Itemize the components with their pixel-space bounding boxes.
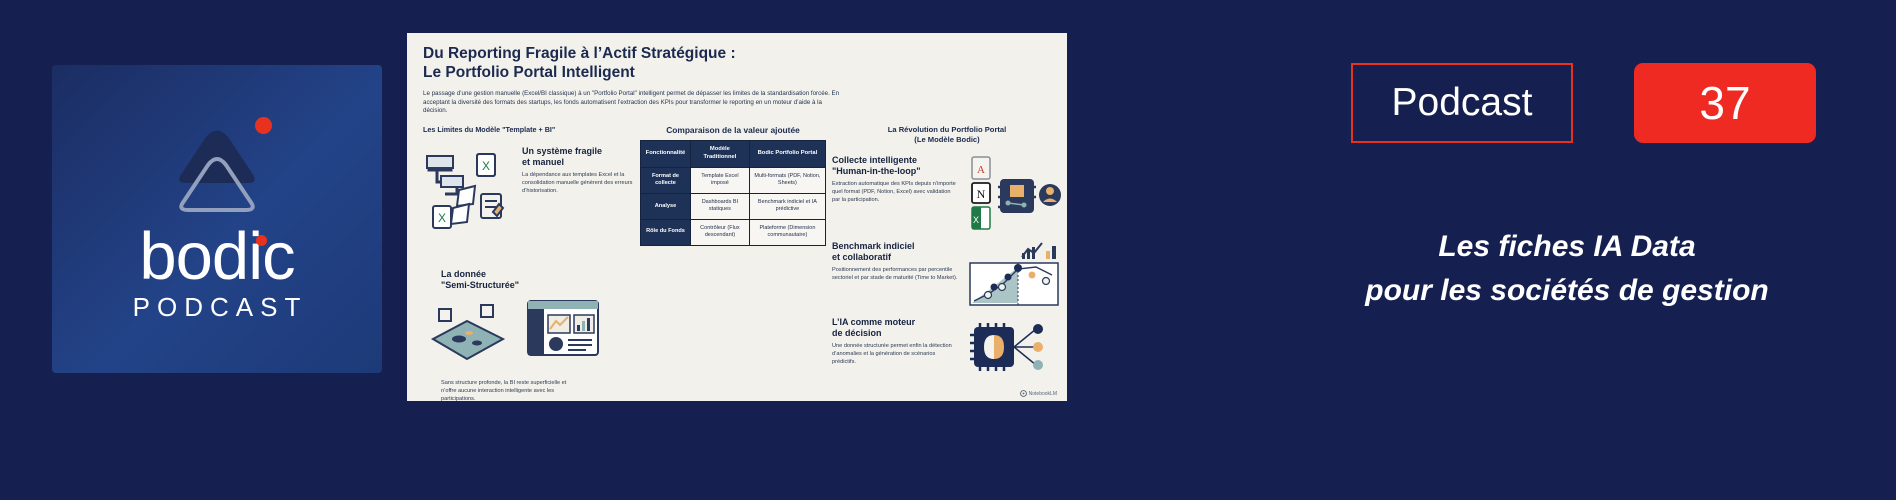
limits-block-1-title: Un système fragile et manuel bbox=[522, 146, 634, 168]
limits-column: Les Limites du Modèle "Template + BI" X bbox=[423, 125, 634, 403]
revolution-block-3: L’IA comme moteur de décision Une donnée… bbox=[832, 317, 1062, 379]
ai-brain-chip-icon bbox=[970, 323, 1014, 371]
revolution-block-1-body: Extraction automatique des KPIs depuis n… bbox=[832, 180, 960, 204]
limits-block-2-title-line1: La donnée bbox=[441, 269, 634, 280]
limits-block-1-title-line2: et manuel bbox=[522, 157, 634, 168]
table-cell-traditional: Contrôleur (Flux descendant) bbox=[690, 219, 749, 245]
revolution-block-2-title: Benchmark indiciel et collaboratif bbox=[832, 241, 960, 263]
table-cell-bodic: Plateforme (Dimension communautaire) bbox=[749, 219, 825, 245]
limits-block-2-body: Sans structure profonde, la BI reste sup… bbox=[423, 379, 573, 403]
table-header-row: Fonctionnalité Modèle Traditionnel Bodic… bbox=[641, 141, 826, 168]
revolution-block-2: Benchmark indiciel et collaboratif Posit… bbox=[832, 241, 1062, 307]
infographic-card: Du Reporting Fragile à l’Actif Stratégiq… bbox=[407, 33, 1067, 401]
notebooklm-icon bbox=[1020, 390, 1027, 397]
comparison-table-caption: Comparaison de la valeur ajoutée bbox=[640, 125, 826, 135]
tagline-line1: Les fiches IA Data bbox=[1257, 225, 1877, 269]
comparison-table-column: Comparaison de la valeur ajoutée Fonctio… bbox=[640, 125, 826, 403]
excel-file-icon: X bbox=[972, 207, 990, 229]
revolution-block-3-body: Une donnée structurée permet enfin la dé… bbox=[832, 342, 956, 366]
revolution-block-3-title-line2: de décision bbox=[832, 328, 956, 339]
table-row: Rôle du Fonds Contrôleur (Flux descendan… bbox=[641, 219, 826, 245]
table-cell-traditional: Template Excel imposé bbox=[690, 167, 749, 193]
revolution-block-1-title-line2: "Human-in-the-loop" bbox=[832, 166, 960, 177]
table-cell-feature: Format de collecte bbox=[641, 167, 691, 193]
logo-red-dot-icon bbox=[255, 117, 272, 134]
table-cell-feature: Analyse bbox=[641, 193, 691, 219]
brand-wordmark: bodic bbox=[139, 225, 294, 289]
podcast-label-box: Podcast bbox=[1351, 63, 1573, 143]
table-header-traditional: Modèle Traditionnel bbox=[690, 141, 749, 168]
brand-logo-panel: bodic PODCAST bbox=[52, 65, 382, 373]
bi-dashboard-icon bbox=[526, 297, 600, 364]
table-cell-feature: Rôle du Fonds bbox=[641, 219, 691, 245]
episode-number-text: 37 bbox=[1699, 76, 1750, 130]
revolution-block-1: Collecte intelligente "Human-in-the-loop… bbox=[832, 155, 1062, 231]
table-row: Analyse Dashboards BI statiques Benchmar… bbox=[641, 193, 826, 219]
infographic-title-line2: Le Portfolio Portal Intelligent bbox=[423, 64, 1051, 83]
limits-block-2-title: La donnée "Semi-Structurée" bbox=[423, 269, 634, 291]
shallow-data-lake-icon bbox=[423, 297, 519, 376]
brand-subtitle: PODCAST bbox=[127, 292, 308, 323]
comparison-table: Fonctionnalité Modèle Traditionnel Bodic… bbox=[640, 140, 826, 245]
ai-chip-icon bbox=[998, 179, 1036, 213]
bodic-triangle-cloud-logo bbox=[158, 115, 276, 215]
revolution-block-3-title-line1: L’IA comme moteur bbox=[832, 317, 956, 328]
podcast-banner: bodic PODCAST Du Reporting Fragile à l’A… bbox=[0, 0, 1896, 500]
infographic-title-line1: Du Reporting Fragile à l’Actif Stratégiq… bbox=[423, 45, 1051, 64]
line-chart-up-icon bbox=[1022, 243, 1042, 259]
svg-text:X: X bbox=[482, 159, 490, 173]
episode-number-badge: 37 bbox=[1634, 63, 1816, 143]
revolution-block-3-title: L’IA comme moteur de décision bbox=[832, 317, 956, 339]
pdf-file-icon: A bbox=[972, 157, 990, 179]
limits-block-1-body: La dépendance aux templates Excel et la … bbox=[522, 171, 634, 195]
revolution-block-2-icons bbox=[966, 241, 1062, 307]
tagline-line2: pour les sociétés de gestion bbox=[1257, 269, 1877, 313]
revolution-block-2-body: Positionnement des performances par perc… bbox=[832, 266, 960, 282]
svg-text:A: A bbox=[977, 164, 985, 176]
bar-chart-icon bbox=[1046, 246, 1056, 259]
infographic-title: Du Reporting Fragile à l’Actif Stratégiq… bbox=[423, 45, 1051, 83]
revolution-block-3-icons bbox=[962, 317, 1062, 379]
table-cell-traditional: Dashboards BI statiques bbox=[690, 193, 749, 219]
decision-tree-icon bbox=[1014, 324, 1043, 370]
revolution-block-1-title-line1: Collecte intelligente bbox=[832, 155, 960, 166]
svg-text:N: N bbox=[977, 187, 986, 201]
table-cell-bodic: Multi-formats (PDF, Notion, Sheets) bbox=[749, 167, 825, 193]
revolution-block-1-icons: A N X bbox=[966, 155, 1062, 231]
notebooklm-credit: NotebookLM bbox=[1020, 390, 1057, 397]
infographic-intro: Le passage d’une gestion manuelle (Excel… bbox=[423, 90, 843, 116]
notebooklm-credit-text: NotebookLM bbox=[1029, 391, 1057, 397]
broken-excel-flow-icon: X X bbox=[423, 146, 515, 243]
tagline: Les fiches IA Data pour les sociétés de … bbox=[1257, 225, 1877, 312]
svg-text:X: X bbox=[438, 211, 446, 225]
scatter-plot-icon bbox=[970, 263, 1058, 305]
table-header-feature: Fonctionnalité bbox=[641, 141, 691, 168]
table-cell-bodic: Benchmark indiciel et IA prédictive bbox=[749, 193, 825, 219]
revolution-heading: La Révolution du Portfolio Portal (Le Mo… bbox=[832, 125, 1062, 145]
revolution-heading-line1: La Révolution du Portfolio Portal bbox=[832, 125, 1062, 135]
revolution-column: La Révolution du Portfolio Portal (Le Mo… bbox=[832, 125, 1062, 403]
revolution-heading-line2: (Le Modèle Bodic) bbox=[832, 135, 1062, 145]
table-header-bodic: Bodic Portfolio Portal bbox=[749, 141, 825, 168]
table-row: Format de collecte Template Excel imposé… bbox=[641, 167, 826, 193]
person-avatar-icon bbox=[1039, 184, 1061, 206]
svg-text:X: X bbox=[973, 215, 979, 225]
notion-icon: N bbox=[972, 183, 990, 203]
wordmark-i-dot-icon bbox=[256, 235, 267, 246]
brand-wordmark-text: bodic bbox=[139, 219, 294, 294]
limits-block-1-title-line1: Un système fragile bbox=[522, 146, 634, 157]
revolution-block-1-title: Collecte intelligente "Human-in-the-loop… bbox=[832, 155, 960, 177]
limits-block-2-title-line2: "Semi-Structurée" bbox=[441, 280, 634, 291]
limits-heading: Les Limites du Modèle "Template + BI" bbox=[423, 125, 634, 134]
revolution-block-2-title-line1: Benchmark indiciel bbox=[832, 241, 960, 252]
podcast-label-text: Podcast bbox=[1392, 81, 1533, 125]
revolution-block-2-title-line2: et collaboratif bbox=[832, 252, 960, 263]
